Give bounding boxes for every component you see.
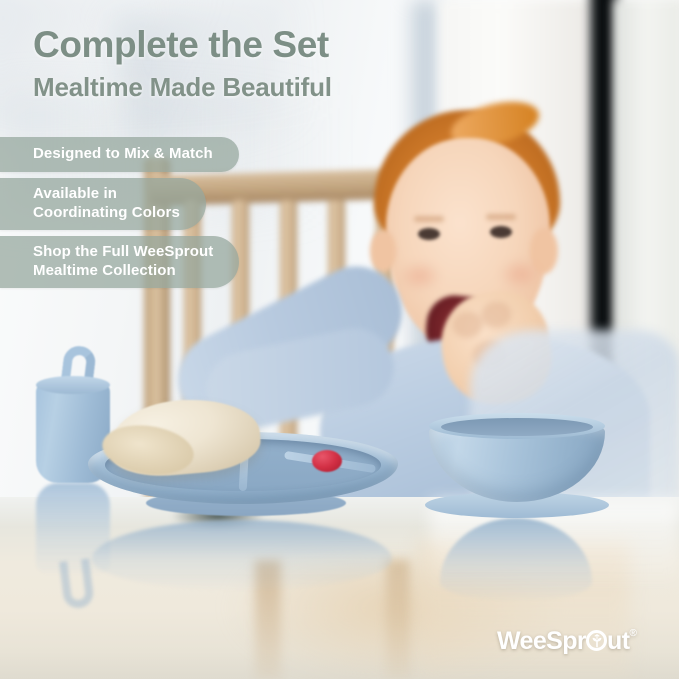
raspberry: [312, 450, 342, 472]
eye-right: [490, 226, 512, 238]
feature-pill-2-line2: Coordinating Colors: [33, 204, 180, 221]
brand-name-part2: ut: [607, 627, 629, 656]
brand-name-part1: WeeSpr: [497, 627, 586, 656]
registered-trademark-symbol: ®: [629, 629, 636, 639]
headline: Complete the Set: [33, 26, 329, 64]
cup-rim: [36, 376, 110, 394]
feature-pill-list: Designed to Mix & Match Available in Coo…: [0, 137, 300, 294]
feature-pill-3-text: Shop the Full WeeSprout Mealtime Collect…: [33, 242, 213, 281]
suction-bowl: [425, 418, 609, 526]
feature-pill-3-line1: Shop the Full WeeSprout: [33, 243, 213, 260]
feature-pill-3-line2: Mealtime Collection: [33, 262, 176, 279]
feature-pill-2[interactable]: Available in Coordinating Colors: [0, 178, 206, 230]
feature-pill-2-line1: Available in: [33, 185, 117, 202]
eye-left: [418, 228, 440, 240]
promo-image: Complete the Set Mealtime Made Beautiful…: [0, 0, 679, 679]
divided-suction-plate: [88, 432, 398, 524]
brand-logo[interactable]: WeeSpr ut ®: [497, 627, 636, 656]
subheadline: Mealtime Made Beautiful: [33, 74, 332, 101]
ear-left: [370, 230, 396, 272]
sprout-icon: [586, 630, 607, 651]
cheek-left: [398, 260, 442, 292]
knuckle: [451, 310, 484, 340]
plate-reflection: [92, 520, 392, 590]
feature-pill-3[interactable]: Shop the Full WeeSprout Mealtime Collect…: [0, 236, 239, 288]
cheek-right: [498, 258, 542, 290]
feature-pill-1-text: Designed to Mix & Match: [33, 144, 213, 164]
bowl-interior: [441, 418, 593, 436]
feature-pill-1[interactable]: Designed to Mix & Match: [0, 137, 239, 172]
chair-leg-reflection: [386, 560, 410, 679]
knuckle: [480, 300, 513, 330]
eyebrow-left: [414, 216, 444, 222]
feature-pill-2-text: Available in Coordinating Colors: [33, 184, 180, 223]
eyebrow-right: [486, 214, 516, 220]
